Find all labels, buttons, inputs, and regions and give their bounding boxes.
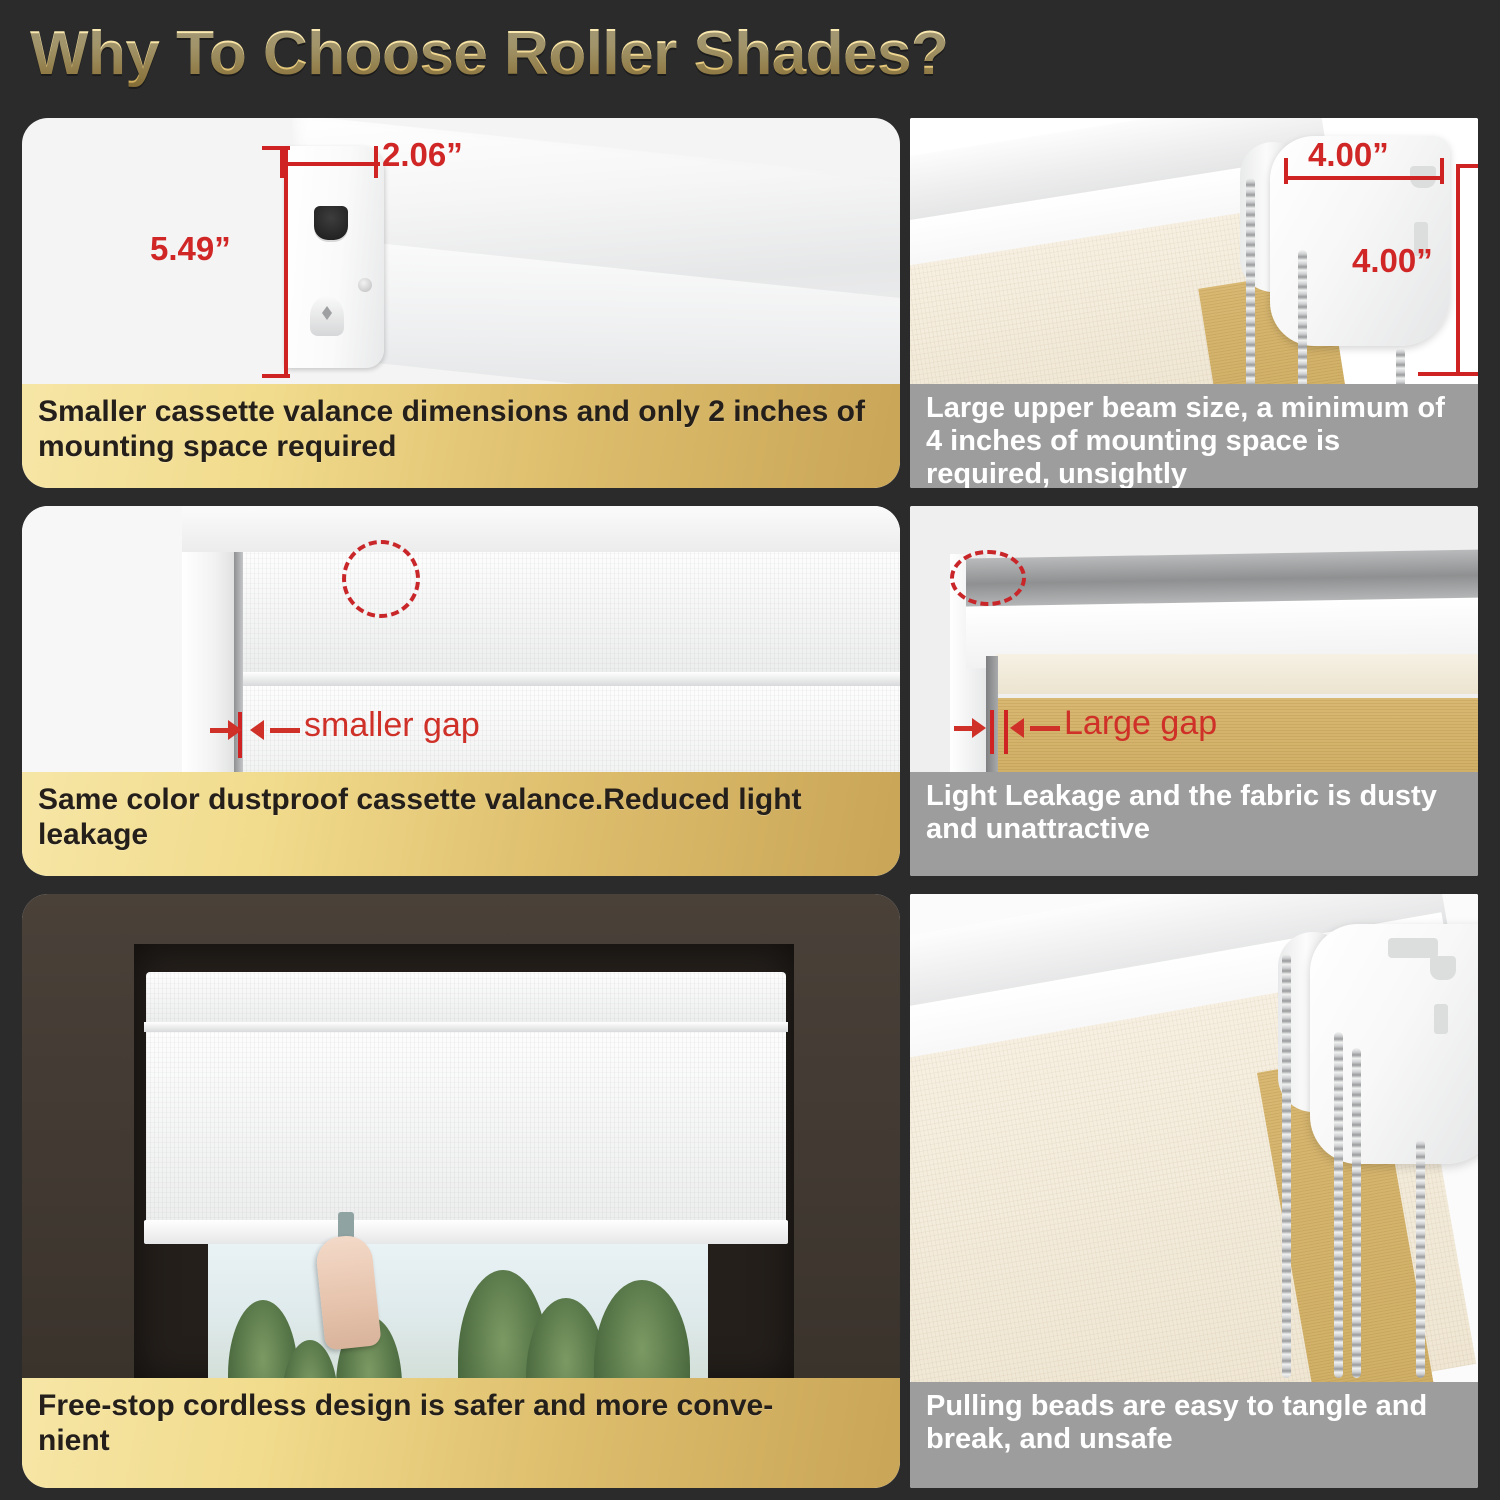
caption-smaller-gap: Same color dustproof cassette valance.Re… (22, 772, 900, 876)
window-view (208, 1244, 708, 1378)
width-dim-tick-right (374, 146, 378, 178)
gap-tick-1 (990, 710, 994, 754)
gap-tick-2 (1004, 710, 1008, 754)
tree-6 (594, 1280, 690, 1378)
panel-large-gap: Large gap Light Leakage and the fabric i… (910, 506, 1478, 876)
caption-pulling-beads: Pulling beads are easy to tangle and bre… (910, 1382, 1478, 1488)
large-beam-photo: 4.00” 4.00” (910, 118, 1478, 386)
beam-height-tick-bottom (1418, 372, 1478, 376)
cap-screw (358, 278, 372, 292)
highlight-circle-icon (342, 540, 420, 618)
beam-height-tick-top (1456, 164, 1478, 168)
large-gap-label: Large gap (1064, 704, 1217, 743)
beam-height-label: 4.00” (1352, 242, 1433, 280)
bead-chain-1 (1246, 178, 1255, 386)
gap-arrow-left-head (228, 720, 242, 740)
comparison-grid: 2.06” 5.49” Smaller cassette valance dim… (22, 118, 1478, 1488)
panel-cordless-design: Free-stop cordless design is safer and m… (22, 894, 900, 1488)
beam-width-tick-left (1284, 158, 1288, 184)
beam-width-tick-right (1440, 158, 1444, 184)
window-frame-top (182, 506, 900, 552)
caption-large-gap: Light Leakage and the fabric is dusty an… (910, 772, 1478, 876)
bracket-notch-a (1388, 938, 1438, 958)
bead-chain-4 (1416, 1140, 1425, 1378)
highlight-circle-icon (950, 550, 1026, 606)
gap-arrow-right-shaft (270, 728, 300, 733)
height-dim-tick-bottom (262, 374, 290, 378)
gap-arrow-right-head (250, 720, 264, 740)
shade-upper-section (242, 552, 900, 674)
shade-cream-band (996, 654, 1478, 694)
bead-chain-2 (1298, 250, 1307, 386)
cap-wheel (310, 296, 344, 336)
cordless-photo (22, 894, 900, 1378)
page-title: Why To Choose Roller Shades? (30, 18, 948, 89)
bead-chain-2 (1334, 1032, 1343, 1378)
panel-cassette-dimensions: 2.06” 5.49” Smaller cassette valance dim… (22, 118, 900, 488)
smaller-gap-photo: smaller gap (22, 506, 900, 772)
panel-smaller-gap: smaller gap Same color dustproof cassett… (22, 506, 900, 876)
width-dimension-label: 2.06” (382, 136, 463, 174)
cap-slot (314, 206, 348, 240)
panel-pulling-beads: Pulling beads are easy to tangle and bre… (910, 894, 1478, 1488)
cassette-valance (146, 972, 786, 1024)
shade-bottom-bar (144, 1220, 788, 1244)
beam-width-label: 4.00” (1308, 136, 1389, 174)
bead-chain-1 (1282, 954, 1291, 1378)
gap-arrow-right-head (1010, 718, 1024, 738)
cassette-photo: 2.06” 5.49” (22, 118, 900, 386)
width-dim-line (280, 162, 380, 166)
caption-cordless-design: Free-stop cordless design is safer and m… (22, 1378, 900, 1488)
bracket-notch-c (1434, 1004, 1448, 1034)
roller-shade-fabric (146, 1032, 786, 1228)
smaller-gap-label: smaller gap (304, 706, 480, 745)
beam-width-line (1284, 176, 1444, 180)
bead-chain-3 (1352, 1048, 1361, 1378)
bead-chain-3 (1396, 348, 1405, 386)
bracket-notch-b (1430, 956, 1456, 980)
caption-cassette-dimensions: Smaller cassette valance dimensions and … (22, 384, 900, 488)
beam-height-line (1456, 164, 1460, 376)
gap-arrow-left-head (972, 718, 986, 738)
gap-arrow-right-shaft (1030, 726, 1060, 731)
large-gap-photo: Large gap (910, 506, 1478, 772)
height-dim-line (284, 146, 288, 378)
caption-large-beam-dimensions: Large upper beam size, a minimum of 4 in… (910, 384, 1478, 488)
panel-large-beam-dimensions: 4.00” 4.00” Large upper beam size, a min… (910, 118, 1478, 488)
height-dim-tick-top (262, 146, 290, 150)
shade-mid-rail (240, 672, 900, 686)
valance-rail (144, 1022, 788, 1032)
height-dimension-label: 5.49” (150, 230, 231, 268)
pulling-beads-photo (910, 894, 1478, 1382)
